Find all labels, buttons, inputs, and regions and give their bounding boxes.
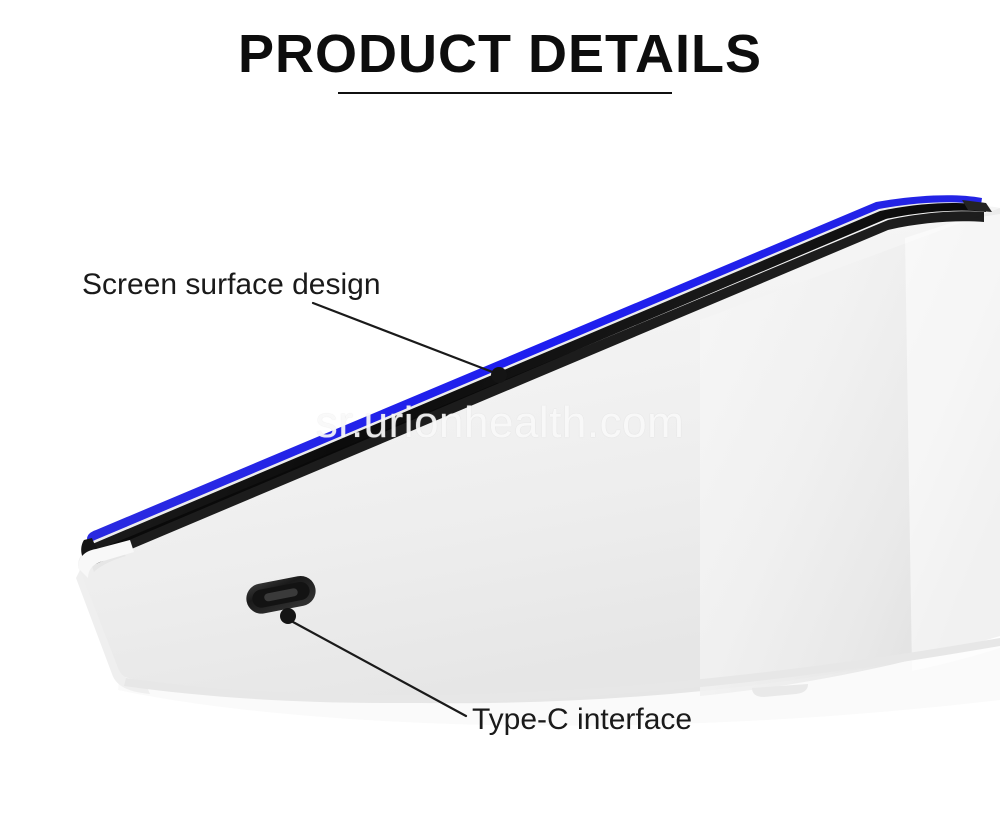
device-body-sheen [905,214,1000,671]
callout-label-type-c-interface: Type-C interface [472,703,692,737]
title-underline [338,92,672,94]
product-details-page: sr.urionhealth.com PRODUCT DETAILS Scree… [0,0,1000,836]
heading-block: PRODUCT DETAILS [0,26,1000,83]
callout-label-screen-surface-design: Screen surface design [82,268,381,302]
page-title: PRODUCT DETAILS [0,26,1000,83]
